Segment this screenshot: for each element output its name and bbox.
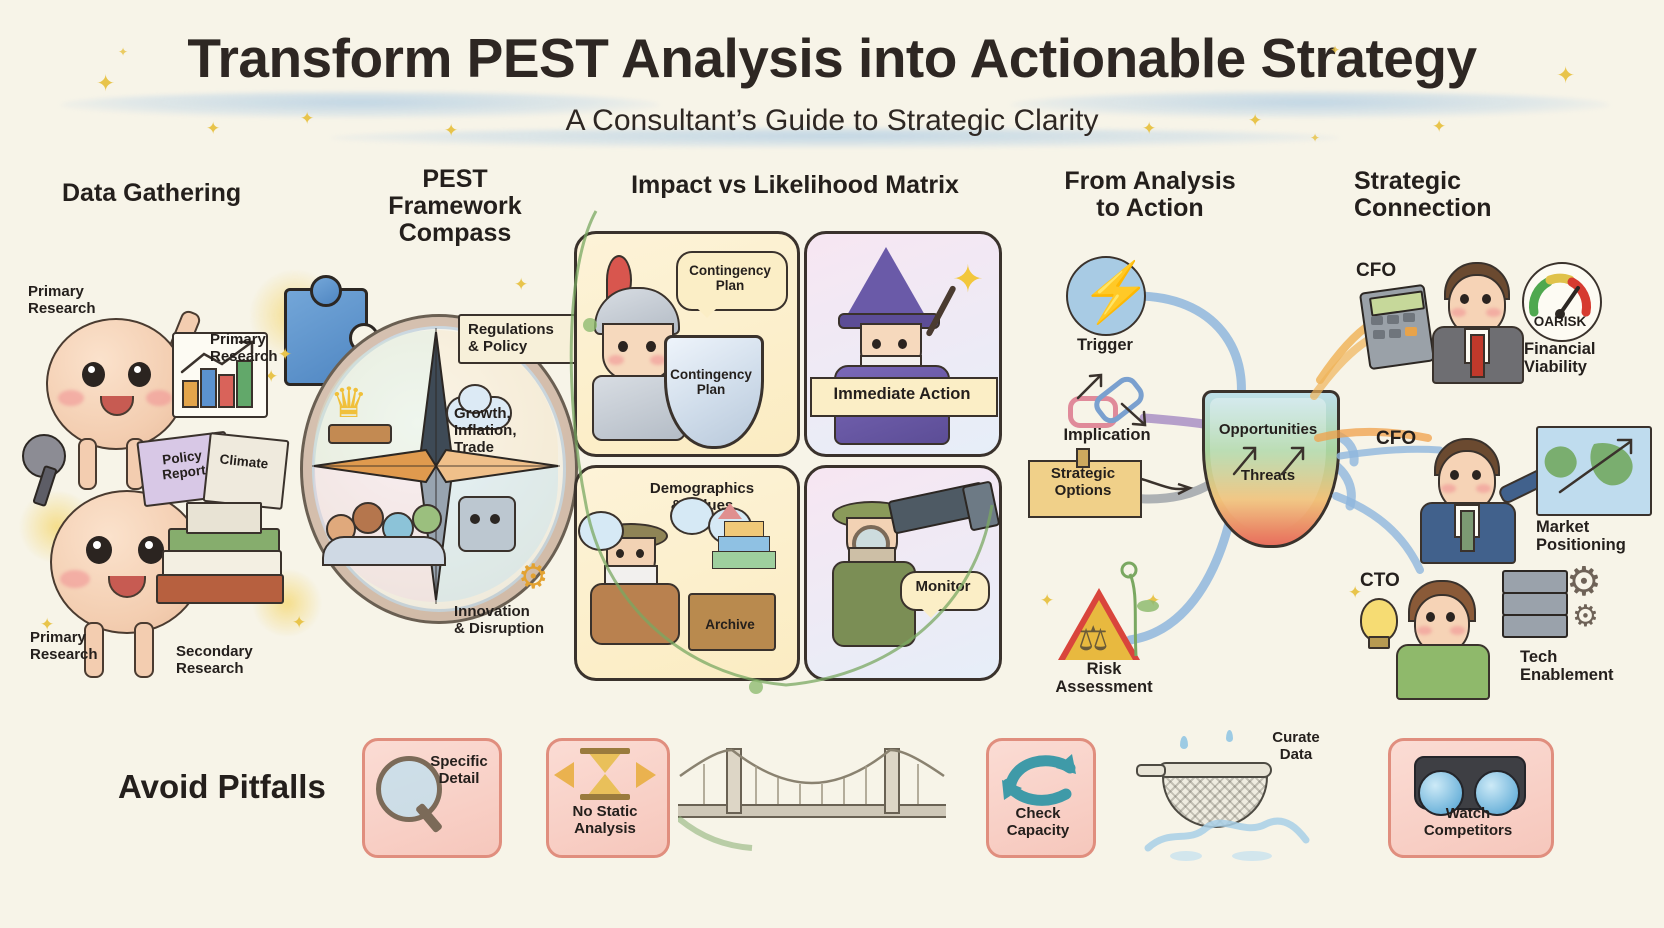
library-building-icon [186, 502, 262, 534]
water-droplet-icon [1226, 730, 1233, 742]
label-line: Positioning [1536, 536, 1664, 554]
column-title-line: Compass [350, 220, 560, 247]
column-title-data-gathering: Data Gathering [62, 180, 322, 207]
gear-icon: ⚙ [1566, 562, 1602, 602]
compass-label-economic: Growth, Inflation, Trade [454, 406, 564, 456]
column-title-line: Framework [350, 193, 560, 220]
cfo-2-eye [1472, 470, 1481, 480]
sparkle-icon: ✦ [1330, 44, 1340, 56]
label-line: Financial [1524, 340, 1654, 358]
label-strategic-options: Strategic Options [1030, 466, 1136, 500]
water-droplet-icon [1180, 736, 1188, 749]
label-line: Competitors [1390, 823, 1546, 840]
hourglass-icon-bottom [588, 774, 622, 795]
sparkle-icon: ✦ [1248, 112, 1262, 129]
sparkle-icon: ✦ [514, 276, 528, 293]
blob-eye-shine [134, 366, 141, 373]
person-avatar [352, 502, 384, 534]
column-title-line: Connection [1354, 195, 1604, 222]
robot-eye [470, 514, 480, 524]
server-icon [1502, 592, 1568, 616]
column-title-line: Strategic [1354, 168, 1604, 195]
blob-eye-shine [88, 366, 95, 373]
cfo-2-tie [1460, 510, 1475, 552]
column-title-line: to Action [1020, 195, 1280, 222]
label-line: Tech [1520, 648, 1656, 666]
blob-character-upper [46, 318, 186, 450]
calculator-key [1405, 327, 1417, 336]
world-map-continents [1536, 426, 1648, 512]
blob-eye-shine [93, 541, 101, 549]
label-line: Viability [1524, 358, 1654, 376]
label-line: Trade [454, 440, 564, 457]
blob-eye [86, 536, 112, 564]
recycle-arrows-icon [996, 748, 1082, 808]
label-primary-research-1: Primary Research [28, 284, 148, 318]
sieve-rim [1158, 762, 1272, 778]
server-icon [1502, 614, 1568, 638]
column-title-strategic-connection: Strategic Connection [1354, 168, 1604, 222]
blob-cheek [146, 390, 172, 406]
label-line: Curate [1248, 730, 1344, 747]
page-subtitle: A Consultant’s Guide to Strategic Clarit… [0, 104, 1664, 138]
role-label-cfo-2: CFO [1376, 428, 1446, 449]
gear-icon: ⚙ [1572, 602, 1599, 632]
crown-base [328, 424, 392, 444]
cfo-2-cheek [1441, 484, 1456, 493]
blob-cheek [58, 390, 84, 406]
label-line: Risk [1044, 660, 1164, 678]
risk-gauge-label: OARISK [1522, 314, 1598, 329]
label-line: Capacity [988, 823, 1088, 840]
vine-decoration [556, 205, 1016, 705]
label-risk-assessment: Risk Assessment [1044, 660, 1164, 697]
caption-market-positioning: Market Positioning [1536, 518, 1664, 555]
label-line: Research [28, 301, 148, 318]
blob-eye-shine [145, 541, 153, 549]
caption-financial-viability: Financial Viability [1524, 340, 1654, 377]
cfo-1-eye [1482, 294, 1491, 304]
label-line: Enablement [1520, 666, 1656, 684]
robot-icon [458, 496, 516, 552]
pitfall-label-check-capacity: Check Capacity [988, 806, 1088, 839]
label-line: Research [30, 647, 150, 664]
caption-tech-enablement: Tech Enablement [1520, 648, 1656, 685]
right-arrow-icon [636, 762, 656, 788]
calculator-key [1373, 330, 1385, 339]
cto-cheek [1450, 626, 1465, 635]
lightning-bolt-icon: ⚡ [1080, 264, 1152, 322]
sprout-decoration [1108, 548, 1168, 658]
cto-cheek [1417, 626, 1432, 635]
column-title-pest-compass: PEST Framework Compass [350, 166, 560, 247]
label-line: Primary [30, 630, 150, 647]
bridge-icon [678, 742, 948, 852]
label-line: Data [1248, 747, 1344, 764]
avoid-pitfalls-title-text: Avoid Pitfalls [118, 768, 326, 805]
cfo-2-cheek [1476, 484, 1491, 493]
scales-icon: ⚖ [1078, 622, 1108, 656]
people-group-icon [322, 496, 448, 564]
column-title-analysis-to-action: From Analysis to Action [1020, 168, 1280, 222]
sieve-handle [1136, 764, 1166, 777]
label-line: No Static [548, 804, 662, 821]
cfo-1-cheek [1451, 308, 1466, 317]
data-gathering-group: ✦ ✦ [0, 240, 330, 700]
infographic-canvas: Transform PEST Analysis into Actionable … [0, 0, 1664, 928]
label-line: Watch [1390, 806, 1546, 823]
label-line: Primary [28, 284, 148, 301]
label-line: Analysis [548, 821, 662, 838]
label-line: Detail [420, 771, 498, 788]
cto-top [1396, 644, 1490, 700]
label-line: Inflation, [454, 423, 564, 440]
cfo-2-eye [1450, 470, 1459, 480]
crown-icon: ♛ [330, 382, 368, 424]
page-title: Transform PEST Analysis into Actionable … [0, 26, 1664, 90]
matrix-group: Contingency Plan Contingency Plan ✦ Imme… [560, 225, 1010, 685]
bridge-cables [678, 742, 946, 852]
label-trigger: Trigger [1058, 336, 1152, 354]
cfo-1-cheek [1486, 308, 1501, 317]
label-primary-research-3: Primary Research [30, 630, 150, 664]
book-stack-icon [168, 528, 278, 608]
sparkle-icon: ✦ [206, 120, 220, 137]
lightbulb-base [1368, 636, 1390, 649]
sparkle-icon: ✦ [1556, 64, 1575, 87]
calculator-key [1387, 315, 1399, 324]
hourglass-icon-top [588, 752, 622, 773]
cfo-1-eye [1460, 294, 1469, 304]
pest-compass-group: ♛ ⚙ Regulations & Policy Growth, Inflati… [286, 284, 586, 684]
cto-eye [1426, 612, 1435, 622]
sparkle-icon: ✦ [1310, 132, 1320, 144]
column-title-matrix: Impact vs Likelihood Matrix [600, 172, 990, 199]
avoid-pitfalls-title: Avoid Pitfalls [118, 768, 326, 806]
cfo-1-tie [1470, 334, 1485, 378]
label-line: Specific [420, 754, 498, 771]
pitfall-label-watch-competitors: Watch Competitors [1390, 806, 1546, 839]
label-line: Options [1030, 483, 1136, 500]
hourglass-frame-bottom [580, 794, 630, 800]
cto-eye [1446, 612, 1455, 622]
sparkle-icon: ✦ [1432, 118, 1446, 135]
robot-eye [490, 514, 500, 524]
label-line: Assessment [1044, 678, 1164, 696]
label-line: Market [1536, 518, 1664, 536]
role-label-cfo-1: CFO [1356, 260, 1426, 281]
label-line: Strategic [1030, 466, 1136, 483]
person-body [322, 536, 446, 566]
calculator-key [1403, 313, 1415, 322]
sparkle-icon: ✦ [300, 110, 314, 127]
sparkle-icon: ✦ [444, 122, 458, 139]
calculator-key [1371, 316, 1383, 325]
sparkle-icon: ✦ [118, 46, 128, 58]
pitfall-label-no-static-analysis: No Static Analysis [548, 804, 662, 837]
left-arrow-icon [554, 762, 574, 788]
blob-eye [138, 536, 164, 564]
column-title-line: PEST [350, 166, 560, 193]
sparkle-icon: ✦ [1348, 584, 1362, 601]
calculator-key [1389, 329, 1401, 338]
column-title-line: From Analysis [1020, 168, 1280, 195]
sparkle-icon: ✦ [1040, 592, 1054, 609]
pitfall-label-curate-data: Curate Data [1248, 730, 1344, 763]
water-splash-icon [1140, 806, 1310, 862]
blob-cheek [60, 570, 90, 588]
sparkle-icon: ✦ [1142, 120, 1156, 137]
label-line: Growth, [454, 406, 564, 423]
strategic-connection-group: CFO OARISK Financial Viability [1340, 240, 1664, 700]
gear-icon: ⚙ [518, 560, 548, 594]
blob-leg [78, 438, 97, 490]
label-line: Check [988, 806, 1088, 823]
sparkle-icon: ✦ [292, 614, 306, 631]
person-avatar [412, 504, 442, 534]
chart-bar [182, 380, 199, 408]
sparkle-icon: ✦ [96, 72, 115, 95]
hourglass-frame-top [580, 748, 630, 754]
pitfall-label-specific-detail: Specific Detail [420, 754, 498, 787]
server-icon [1502, 570, 1568, 594]
book [156, 574, 284, 604]
sparkle-icon: ✦ [278, 346, 292, 363]
label-implication: Implication [1042, 426, 1172, 444]
